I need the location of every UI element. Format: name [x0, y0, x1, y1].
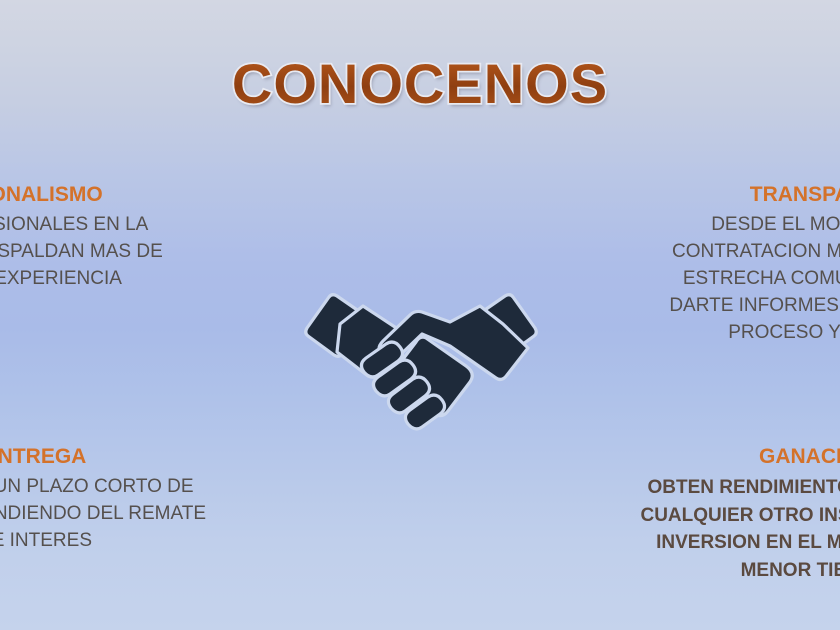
block-line: MENOR TIEMPO [590, 557, 840, 585]
block-line: DENTRO DE UN PLAZO CORTO DE [0, 474, 250, 501]
block-heading-transparencia: TRANSPARENCIA [625, 182, 840, 208]
block-line: SOMOS PROFESIONALES EN LA [0, 212, 215, 239]
block-heading-ganacias: GANACIAS [590, 444, 840, 470]
block-line: DE INTERES [0, 528, 250, 555]
block-line: MATERIA NOS RESPALDAN MAS DE [0, 239, 215, 266]
text-block-transparencia: TRANSPARENCIA DESDE EL MOMENTO DE LA CON… [625, 182, 840, 347]
page-title: CONOCENOS [0, 56, 840, 112]
block-line: 20 AÑOS DE EXPERIENCIA [0, 266, 215, 293]
block-line: DARTE INFORMES DETALLADOS DEL [625, 293, 840, 320]
block-line: CONTRATACION MANTENEMOS UNA [625, 239, 840, 266]
text-block-entrega: ENTREGA DENTRO DE UN PLAZO CORTO DE TIEM… [0, 444, 250, 555]
block-line: TIEMPO DEPENDIENDO DEL REMATE [0, 501, 250, 528]
text-block-ganacias: GANACIAS OBTEN RENDIMIENTOS MAYORES A CU… [590, 444, 840, 584]
handshake-icon [300, 278, 542, 436]
block-line: PROCESO Y SU AVANCE [625, 320, 840, 347]
block-heading-entrega: ENTREGA [0, 444, 250, 470]
block-line: CUALQUIER OTRO INSTRUMENTO DE [590, 502, 840, 530]
block-line: DESDE EL MOMENTO DE LA [625, 212, 840, 239]
block-line: ESTRECHA COMUNICACION PARA [625, 266, 840, 293]
block-heading-profesionalismo: PROFESIONALISMO [0, 182, 215, 208]
block-line: OBTEN RENDIMIENTOS MAYORES A [590, 474, 840, 502]
block-line: INVERSION EN EL MERCADO Y EN [590, 529, 840, 557]
text-block-profesionalismo: PROFESIONALISMO SOMOS PROFESIONALES EN L… [0, 182, 215, 293]
slide-canvas: CONOCENOS CONOCENOS PROFESIONALISMO SOMO… [0, 0, 840, 630]
